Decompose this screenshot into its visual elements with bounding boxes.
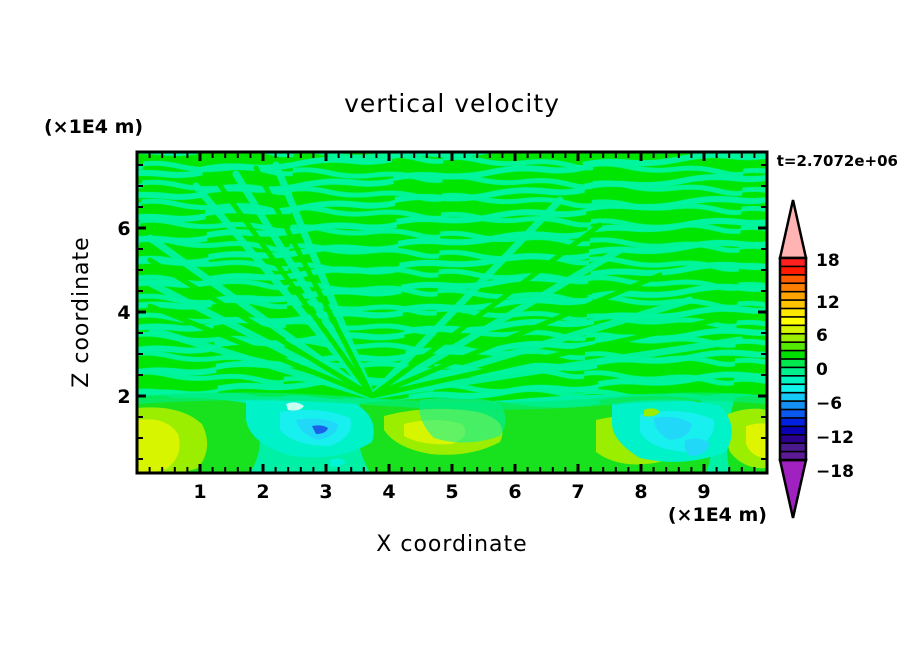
timestamp-label: t=2.7072e+06 xyxy=(777,152,898,170)
colorbar-band xyxy=(780,435,806,444)
colorbar-band xyxy=(780,426,806,435)
y-axis-unit-label: (×1E4 m) xyxy=(44,116,143,138)
colorbar-tick-label: 0 xyxy=(816,360,828,380)
colorbar-band xyxy=(780,359,806,368)
colorbar-band xyxy=(780,351,806,360)
colorbar-band xyxy=(780,342,806,351)
x-tick-label: 5 xyxy=(445,481,458,503)
colorbar-band xyxy=(780,393,806,402)
colorbar-band xyxy=(780,418,806,427)
y-tick-label: 4 xyxy=(117,302,130,324)
x-axis-title: X coordinate xyxy=(376,532,527,557)
figure-canvas: vertical velocity (×1E4 m) xyxy=(0,0,904,654)
colorbar-tick-label: 6 xyxy=(816,326,828,346)
colorbar-tick-label: 12 xyxy=(816,293,840,313)
x-tick-label: 6 xyxy=(508,481,521,503)
colorbar-band xyxy=(780,367,806,376)
x-axis-unit-label: (×1E4 m) xyxy=(668,504,767,526)
y-tick-label: 2 xyxy=(117,386,130,408)
x-tick-label: 1 xyxy=(193,481,206,503)
x-tick-label: 3 xyxy=(319,481,332,503)
colorbar-band xyxy=(780,410,806,419)
colorbar-band xyxy=(780,334,806,343)
colorbar-tick-label: 18 xyxy=(816,251,840,271)
x-tick-label: 8 xyxy=(634,481,647,503)
page-title: vertical velocity xyxy=(344,89,560,118)
contour-field xyxy=(137,152,767,475)
colorbar-tick-label: −18 xyxy=(816,462,854,482)
colorbar-band xyxy=(780,309,806,318)
colorbar-band xyxy=(780,292,806,301)
colorbar-band xyxy=(780,384,806,393)
x-tick-label: 2 xyxy=(256,481,269,503)
colorbar-band xyxy=(780,258,806,267)
colorbar-band xyxy=(780,325,806,334)
colorbar-band xyxy=(780,283,806,292)
colorbar-band xyxy=(780,300,806,309)
colorbar-band xyxy=(780,376,806,385)
x-tick-label: 7 xyxy=(571,481,584,503)
y-tick-label: 6 xyxy=(117,218,130,240)
colorbar-band xyxy=(780,443,806,452)
colorbar-band xyxy=(780,275,806,284)
x-tick-label: 4 xyxy=(382,481,395,503)
colorbar-tick-label: −12 xyxy=(816,428,854,448)
y-axis-title: Z coordinate xyxy=(69,236,94,387)
contour-plot-figure: vertical velocity (×1E4 m) xyxy=(0,0,904,654)
x-tick-label: 9 xyxy=(697,481,710,503)
colorbar-band xyxy=(780,401,806,410)
colorbar-tick-label: −6 xyxy=(816,394,842,414)
colorbar-bands xyxy=(780,258,806,460)
colorbar-band xyxy=(780,266,806,275)
colorbar-band xyxy=(780,317,806,326)
